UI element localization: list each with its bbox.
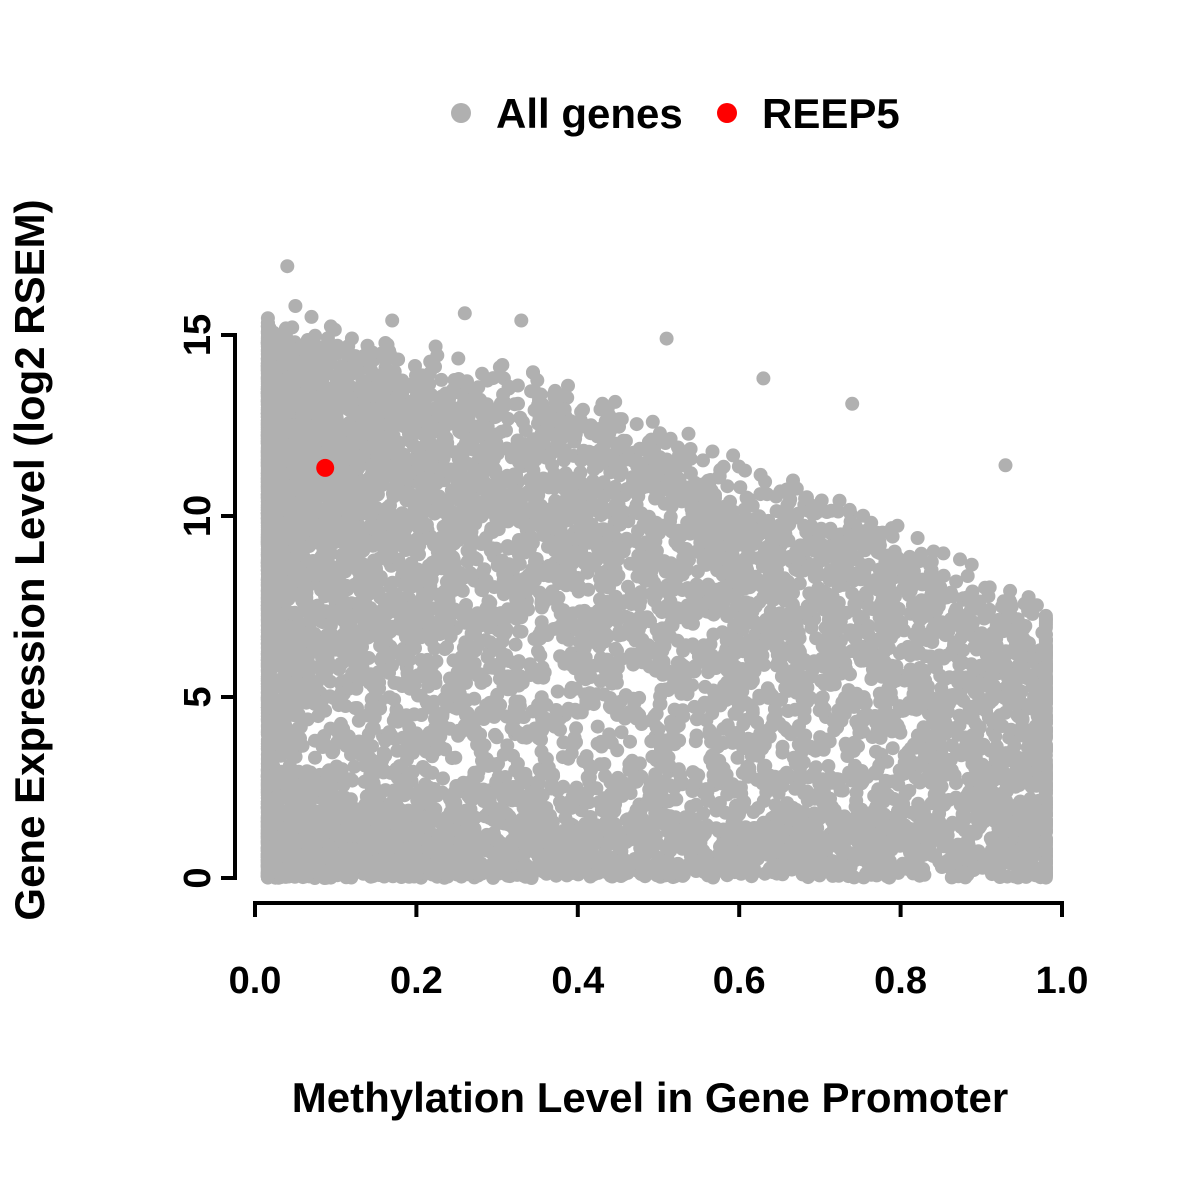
- scatter-point: [953, 552, 967, 566]
- scatter-point: [553, 723, 567, 737]
- scatter-point: [738, 464, 752, 478]
- scatter-point: [615, 725, 629, 739]
- scatter-point: [611, 771, 625, 785]
- plot-canvas: 0.00.20.40.60.81.0 051015 Methylation Le…: [0, 0, 1200, 1200]
- scatter-point: [551, 685, 565, 699]
- scatter-plot-figure: 0.00.20.40.60.81.0 051015 Methylation Le…: [0, 0, 1200, 1200]
- scatter-point: [324, 319, 338, 333]
- scatter-point: [561, 752, 575, 766]
- scatter-point: [569, 721, 583, 735]
- scatter-point: [689, 734, 703, 748]
- scatter-point: [630, 417, 644, 431]
- scatter-point: [591, 720, 605, 734]
- scatter-point: [911, 531, 925, 545]
- scatter-point: [597, 687, 611, 701]
- scatter-point: [451, 352, 465, 366]
- scatter-point: [551, 591, 565, 605]
- scatter-point: [655, 644, 669, 658]
- scatter-point: [698, 680, 712, 694]
- scatter-point: [500, 710, 514, 724]
- scatter-series-all-genes: [261, 259, 1053, 885]
